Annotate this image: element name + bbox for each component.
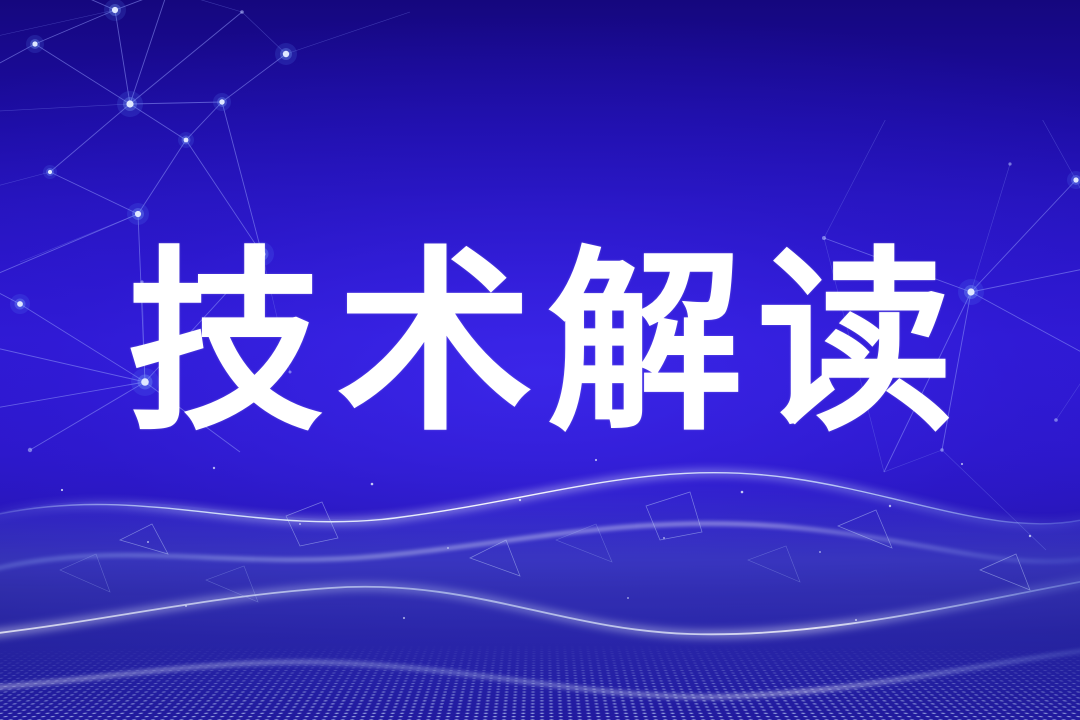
page-title: 技术解读	[0, 246, 1080, 442]
particle-wave-mesh	[0, 420, 1080, 720]
wave-crest-lines-icon	[0, 420, 1080, 720]
banner-canvas: 技术解读	[0, 0, 1080, 720]
